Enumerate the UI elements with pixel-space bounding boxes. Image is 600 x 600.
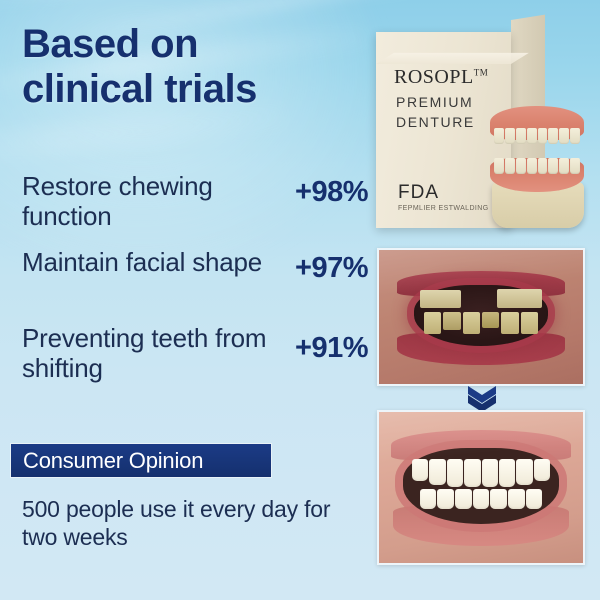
benefit-item: Maintain facial shape +97% — [22, 248, 368, 324]
package-certification: FDA — [398, 182, 439, 204]
benefit-percent: +91% — [295, 332, 368, 365]
headline: Based on clinical trials — [22, 22, 382, 112]
after-upper-teeth — [412, 459, 551, 488]
benefit-label: Restore chewing function — [22, 172, 272, 231]
package-brand: ROSOPLTM — [394, 66, 488, 89]
consumer-opinion-label: Consumer Opinion — [11, 448, 203, 474]
benefits-list: Restore chewing function +98% Maintain f… — [22, 172, 368, 400]
package-line-2: DENTURE — [396, 114, 475, 130]
consumer-opinion-note: 500 people use it every day for two week… — [22, 496, 352, 551]
denture-lower-teeth — [494, 158, 580, 174]
trademark-symbol: TM — [474, 67, 489, 77]
denture-upper-teeth — [494, 128, 580, 144]
benefit-percent: +98% — [295, 176, 368, 209]
benefit-item: Restore chewing function +98% — [22, 172, 368, 248]
benefit-item: Preventing teeth from shifting +91% — [22, 324, 368, 400]
benefit-label: Maintain facial shape — [22, 248, 272, 278]
chevron-down-icon — [466, 386, 498, 412]
benefit-percent: +97% — [295, 252, 368, 285]
consumer-opinion-banner: Consumer Opinion — [10, 443, 272, 478]
before-damaged-tooth-left — [420, 290, 461, 307]
benefit-label: Preventing teeth from shifting — [22, 324, 272, 383]
package-top-panel — [376, 53, 529, 64]
after-lower-teeth — [420, 489, 542, 509]
after-photo — [377, 410, 585, 565]
before-photo — [377, 248, 585, 386]
headline-line-2: clinical trials — [22, 67, 382, 112]
before-damaged-tooth-right — [497, 289, 542, 308]
denture-model — [488, 104, 586, 232]
promo-poster: Based on clinical trials Restore chewing… — [0, 0, 600, 600]
headline-line-1: Based on — [22, 22, 382, 67]
product-package: ROSOPLTM PREMIUM DENTURE FDA FEPMLIER ES… — [376, 18, 586, 233]
package-line-1: PREMIUM — [396, 94, 473, 110]
package-fineprint: FEPMLIER ESTWALDING — [398, 205, 489, 212]
before-lower-teeth — [424, 312, 538, 335]
